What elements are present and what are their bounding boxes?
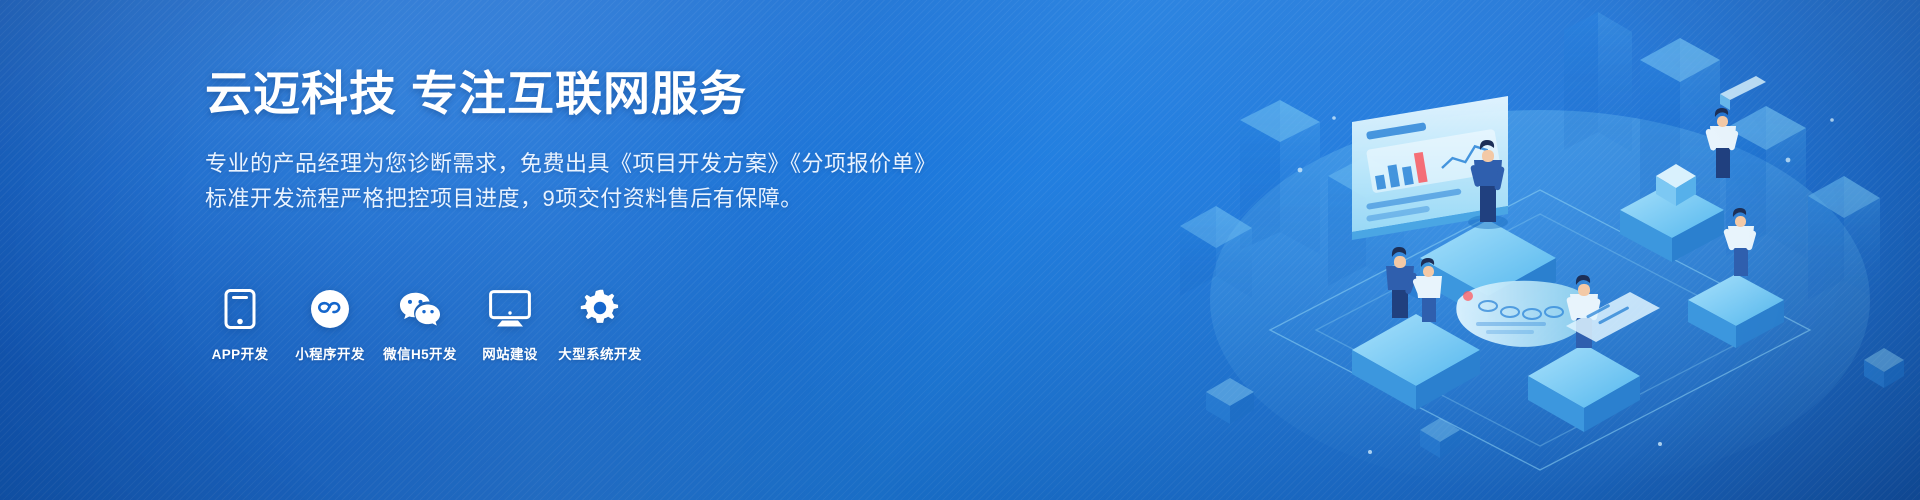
service-item-mini-program[interactable]: 小程序开发 <box>295 288 365 363</box>
gear-icon <box>579 288 621 330</box>
service-item-app[interactable]: APP开发 <box>205 288 275 363</box>
monitor-icon <box>489 288 531 330</box>
service-label: 大型系统开发 <box>558 343 641 363</box>
wechat-icon <box>399 288 441 330</box>
page-title: 云迈科技 专注互联网服务 <box>205 68 965 121</box>
service-item-wechat-h5[interactable]: 微信H5开发 <box>385 288 455 363</box>
illustration-isometric-team <box>1120 0 1920 500</box>
service-item-large-system[interactable]: 大型系统开发 <box>565 288 635 363</box>
service-list: APP开发 小程序开发 <box>205 288 635 363</box>
hero-copy: 云迈科技 专注互联网服务 专业的产品经理为您诊断需求，免费出具《项目开发方案》《… <box>205 68 965 217</box>
service-label: APP开发 <box>212 343 269 363</box>
service-label: 网站建设 <box>482 343 538 363</box>
mini-program-icon <box>309 288 351 330</box>
service-label: 小程序开发 <box>295 343 365 363</box>
hero-subtitle: 专业的产品经理为您诊断需求，免费出具《项目开发方案》《分项报价单》 标准开发流程… <box>205 146 965 217</box>
subtitle-line-1: 专业的产品经理为您诊断需求，免费出具《项目开发方案》《分项报价单》 <box>205 146 965 182</box>
service-label: 微信H5开发 <box>383 343 457 363</box>
subtitle-line-2: 标准开发流程严格把控项目进度，9项交付资料售后有保障。 <box>205 181 965 217</box>
service-item-website[interactable]: 网站建设 <box>475 288 545 363</box>
hero-banner: 云迈科技 专注互联网服务 专业的产品经理为您诊断需求，免费出具《项目开发方案》《… <box>0 0 1920 500</box>
mobile-phone-icon <box>219 288 261 330</box>
